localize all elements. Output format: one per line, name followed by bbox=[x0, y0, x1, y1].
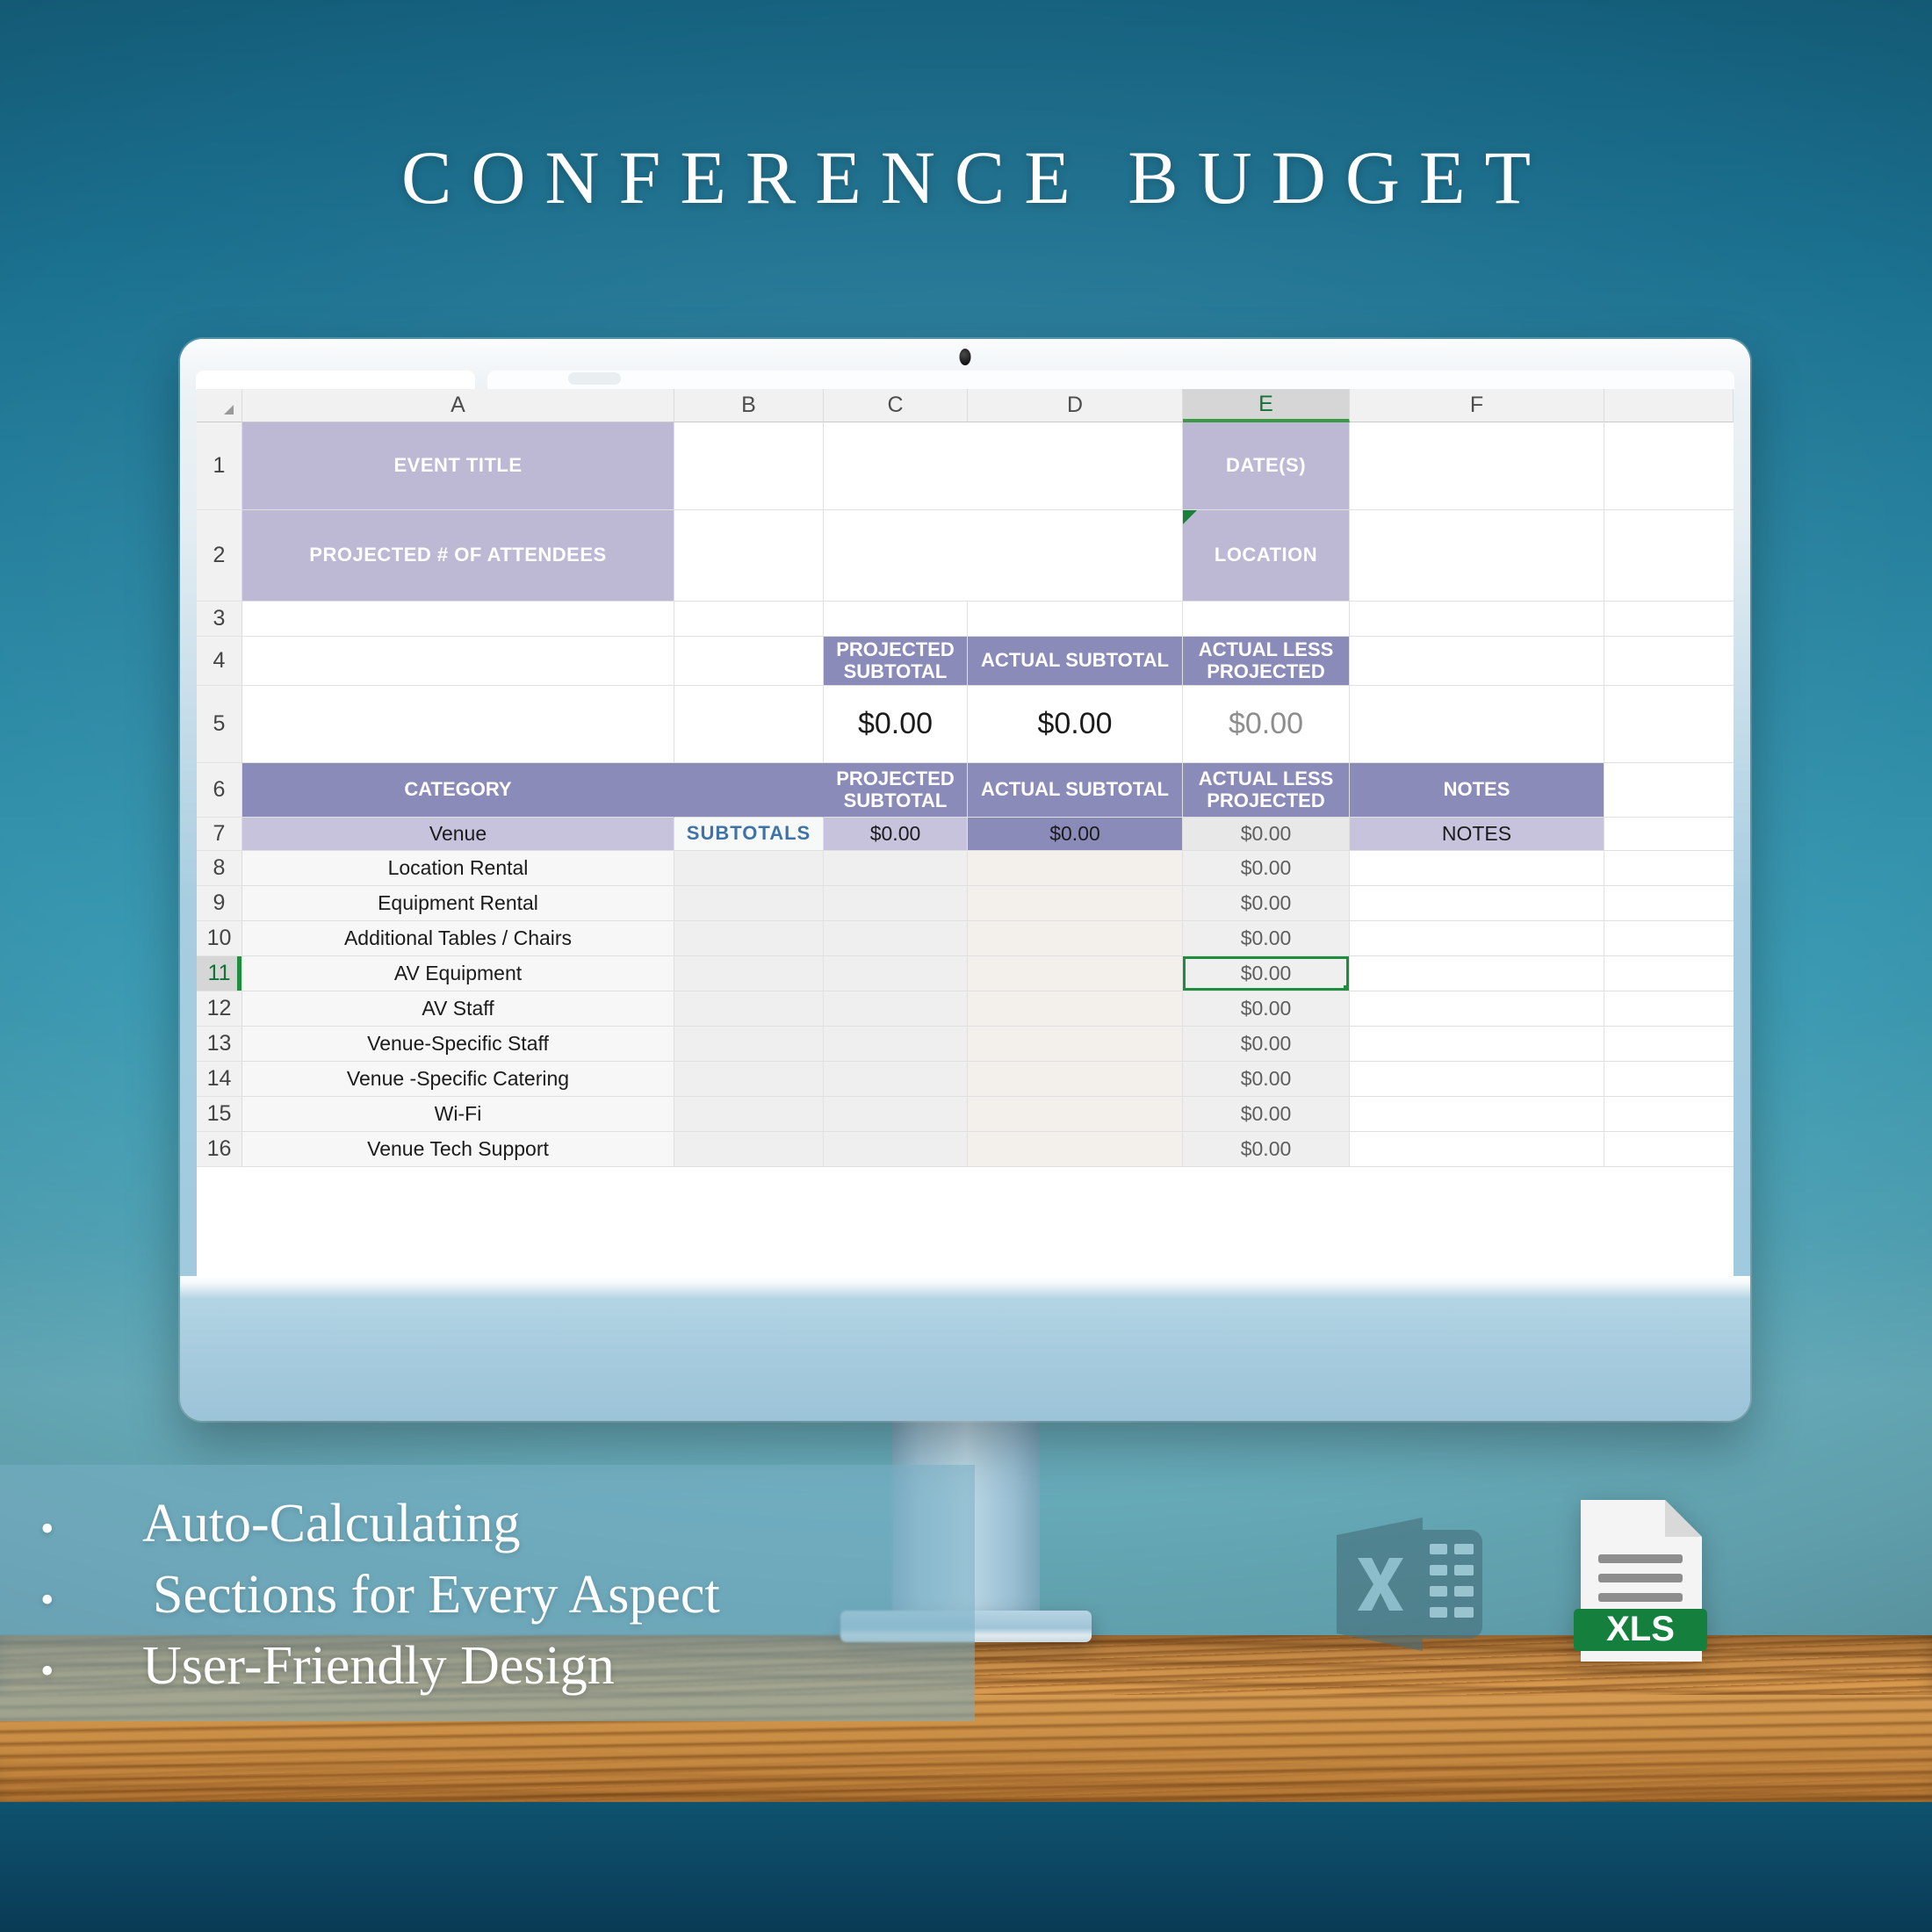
cell-a15-category[interactable]: Wi-Fi bbox=[242, 1097, 674, 1132]
cell-tail-15[interactable] bbox=[1604, 1097, 1734, 1132]
cell-a14-category[interactable]: Venue -Specific Catering bbox=[242, 1062, 674, 1097]
cell-f10-notes[interactable] bbox=[1350, 921, 1604, 956]
cell-f2[interactable] bbox=[1350, 510, 1604, 602]
cell-f1[interactable] bbox=[1350, 422, 1604, 510]
cell-tail-14[interactable] bbox=[1604, 1062, 1734, 1097]
cell-tail-2 bbox=[1604, 510, 1734, 602]
cell-c14-projected[interactable] bbox=[824, 1062, 968, 1097]
cell-f5[interactable] bbox=[1350, 686, 1604, 763]
cell-d3[interactable] bbox=[968, 602, 1183, 637]
cell-a6-category[interactable]: CATEGORY bbox=[242, 763, 674, 818]
row-header-14[interactable]: 14 bbox=[197, 1062, 242, 1097]
cell-a2-projected-attendees[interactable]: PROJECTED # OF ATTENDEES bbox=[242, 510, 674, 602]
cell-e6-line1: ACTUAL LESS bbox=[1199, 768, 1334, 790]
table-row: 2 PROJECTED # OF ATTENDEES LOCATION bbox=[197, 510, 1734, 602]
table-row: 9Equipment Rental$0.00 bbox=[197, 886, 1734, 921]
row-header-3[interactable]: 3 bbox=[197, 602, 242, 637]
cell-a10-category[interactable]: Additional Tables / Chairs bbox=[242, 921, 674, 956]
table-row: 5 $0.00 $0.00 $0.00 bbox=[197, 686, 1734, 763]
table-row: 1 EVENT TITLE DATE(S) bbox=[197, 422, 1734, 510]
cell-tail-7 bbox=[1604, 818, 1734, 851]
cell-d8-actual[interactable] bbox=[968, 851, 1183, 886]
browser-tab-2[interactable] bbox=[487, 371, 1734, 390]
cell-d1[interactable] bbox=[968, 422, 1183, 510]
cell-c15-projected[interactable] bbox=[824, 1097, 968, 1132]
cell-c12-projected[interactable] bbox=[824, 991, 968, 1027]
row-header-6[interactable]: 6 bbox=[197, 763, 242, 818]
row-header-16[interactable]: 16 bbox=[197, 1132, 242, 1167]
cell-c8-projected[interactable] bbox=[824, 851, 968, 886]
cell-a7-venue[interactable]: Venue bbox=[242, 818, 674, 851]
excel-logo-icon bbox=[1331, 1512, 1489, 1656]
row-header-2[interactable]: 2 bbox=[197, 510, 242, 602]
screen: A B C D E F 1 EVENT TITLE DATE(S) bbox=[197, 389, 1734, 1276]
row-header-9[interactable]: 9 bbox=[197, 886, 242, 921]
cell-c5-projected-total[interactable]: $0.00 bbox=[824, 686, 968, 763]
cell-d15-actual[interactable] bbox=[968, 1097, 1183, 1132]
cell-f15-notes[interactable] bbox=[1350, 1097, 1604, 1132]
cell-b3[interactable] bbox=[674, 602, 824, 637]
column-header-d[interactable]: D bbox=[968, 389, 1183, 422]
cell-a8-category[interactable]: Location Rental bbox=[242, 851, 674, 886]
cell-c2[interactable] bbox=[824, 510, 968, 602]
cell-e14-difference[interactable]: $0.00 bbox=[1183, 1062, 1350, 1097]
cell-e5-difference-total[interactable]: $0.00 bbox=[1183, 686, 1350, 763]
cell-d16-actual[interactable] bbox=[968, 1132, 1183, 1167]
webcam-icon bbox=[960, 349, 971, 365]
cell-c1[interactable] bbox=[824, 422, 968, 510]
cell-b14[interactable] bbox=[674, 1062, 824, 1097]
cell-b2[interactable] bbox=[674, 510, 824, 602]
cell-tail-13[interactable] bbox=[1604, 1027, 1734, 1062]
column-header-row: A B C D E F bbox=[197, 389, 1734, 422]
corner-triangle-icon bbox=[224, 405, 234, 415]
table-row: 7 Venue SUBTOTALS $0.00 $0.00 $0.00 NOTE… bbox=[197, 818, 1734, 851]
cell-f3[interactable] bbox=[1350, 602, 1604, 637]
cell-c6-line2: SUBTOTAL bbox=[844, 790, 948, 812]
cell-f12-notes[interactable] bbox=[1350, 991, 1604, 1027]
browser-tab-1[interactable] bbox=[196, 371, 475, 390]
cell-d2[interactable] bbox=[968, 510, 1183, 602]
column-header-a[interactable]: A bbox=[242, 389, 674, 422]
cell-f6-notes[interactable]: NOTES bbox=[1350, 763, 1604, 818]
cell-e4-actual-less-projected[interactable]: ACTUAL LESS PROJECTED bbox=[1183, 637, 1350, 686]
feature-item: • Auto-Calculating bbox=[40, 1495, 975, 1554]
cell-f9-notes[interactable] bbox=[1350, 886, 1604, 921]
cell-c4-projected-subtotal[interactable]: PROJECTED SUBTOTAL bbox=[824, 637, 968, 686]
cell-d13-actual[interactable] bbox=[968, 1027, 1183, 1062]
floor-area bbox=[0, 1802, 1932, 1932]
cell-b1[interactable] bbox=[674, 422, 824, 510]
cell-tail-12[interactable] bbox=[1604, 991, 1734, 1027]
xls-badge-label: XLS bbox=[1606, 1610, 1675, 1648]
cell-b15[interactable] bbox=[674, 1097, 824, 1132]
row-header-7[interactable]: 7 bbox=[197, 818, 242, 851]
row-header-8[interactable]: 8 bbox=[197, 851, 242, 886]
cell-tail-1 bbox=[1604, 422, 1734, 510]
table-row: 10Additional Tables / Chairs$0.00 bbox=[197, 921, 1734, 956]
cell-c10-projected[interactable] bbox=[824, 921, 968, 956]
column-header-e[interactable]: E bbox=[1183, 389, 1350, 422]
table-row: 16Venue Tech Support$0.00 bbox=[197, 1132, 1734, 1167]
cell-c13-projected[interactable] bbox=[824, 1027, 968, 1062]
cell-e15-difference[interactable]: $0.00 bbox=[1183, 1097, 1350, 1132]
cell-tail-11[interactable] bbox=[1604, 956, 1734, 991]
feature-item: • User-Friendly Design bbox=[40, 1637, 975, 1696]
cell-e1-dates[interactable]: DATE(S) bbox=[1183, 422, 1350, 510]
column-header-c[interactable]: C bbox=[824, 389, 968, 422]
cell-c16-projected[interactable] bbox=[824, 1132, 968, 1167]
cell-b11[interactable] bbox=[674, 956, 824, 991]
row-header-10[interactable]: 10 bbox=[197, 921, 242, 956]
cell-b12[interactable] bbox=[674, 991, 824, 1027]
cell-e9-difference[interactable]: $0.00 bbox=[1183, 886, 1350, 921]
row-header-4[interactable]: 4 bbox=[197, 637, 242, 686]
feature-item: • Sections for Every Aspect bbox=[40, 1566, 975, 1625]
row-header-1[interactable]: 1 bbox=[197, 422, 242, 510]
cell-d6-actual-subtotal[interactable]: ACTUAL SUBTOTAL bbox=[968, 763, 1183, 818]
cell-d14-actual[interactable] bbox=[968, 1062, 1183, 1097]
cell-b13[interactable] bbox=[674, 1027, 824, 1062]
cell-tail-8[interactable] bbox=[1604, 851, 1734, 886]
bullet-icon: • bbox=[40, 1510, 79, 1548]
cell-f4[interactable] bbox=[1350, 637, 1604, 686]
cell-f13-notes[interactable] bbox=[1350, 1027, 1604, 1062]
cell-b5[interactable] bbox=[674, 686, 824, 763]
cell-d4-actual-subtotal[interactable]: ACTUAL SUBTOTAL bbox=[968, 637, 1183, 686]
cell-d9-actual[interactable] bbox=[968, 886, 1183, 921]
table-header-row: 6 CATEGORY PROJECTED SUBTOTAL ACTUAL SUB… bbox=[197, 763, 1734, 818]
monitor: A B C D E F 1 EVENT TITLE DATE(S) bbox=[180, 339, 1750, 1421]
cell-a13-category[interactable]: Venue-Specific Staff bbox=[242, 1027, 674, 1062]
cell-f16-notes[interactable] bbox=[1350, 1132, 1604, 1167]
cell-e16-difference[interactable]: $0.00 bbox=[1183, 1132, 1350, 1167]
cell-tail-16[interactable] bbox=[1604, 1132, 1734, 1167]
cell-d12-actual[interactable] bbox=[968, 991, 1183, 1027]
cell-d10-actual[interactable] bbox=[968, 921, 1183, 956]
cell-e3[interactable] bbox=[1183, 602, 1350, 637]
cell-d5-actual-total[interactable]: $0.00 bbox=[968, 686, 1183, 763]
cell-tail-5 bbox=[1604, 686, 1734, 763]
page-title: CONFERENCE BUDGET bbox=[0, 133, 1932, 221]
cell-c7-projected[interactable]: $0.00 bbox=[824, 818, 968, 851]
row-header-15[interactable]: 15 bbox=[197, 1097, 242, 1132]
cell-a4[interactable] bbox=[242, 637, 674, 686]
feature-label-2: Sections for Every Aspect bbox=[153, 1566, 720, 1625]
cell-e6-actual-less-projected[interactable]: ACTUAL LESS PROJECTED bbox=[1183, 763, 1350, 818]
cell-c4-line1: PROJECTED bbox=[836, 639, 954, 661]
cell-e4-line2: PROJECTED bbox=[1207, 661, 1324, 683]
cell-f7-notes[interactable]: NOTES bbox=[1350, 818, 1604, 851]
cell-c4-line2: SUBTOTAL bbox=[844, 661, 948, 683]
cell-c9-projected[interactable] bbox=[824, 886, 968, 921]
row-header-12[interactable]: 12 bbox=[197, 991, 242, 1027]
cell-a5[interactable] bbox=[242, 686, 674, 763]
cell-a12-category[interactable]: AV Staff bbox=[242, 991, 674, 1027]
cell-b10[interactable] bbox=[674, 921, 824, 956]
table-row: 13Venue-Specific Staff$0.00 bbox=[197, 1027, 1734, 1062]
cell-f14-notes[interactable] bbox=[1350, 1062, 1604, 1097]
cell-a3[interactable] bbox=[242, 602, 674, 637]
cell-c11-projected[interactable] bbox=[824, 956, 968, 991]
cell-e10-difference[interactable]: $0.00 bbox=[1183, 921, 1350, 956]
feature-label-1: Auto-Calculating bbox=[142, 1495, 520, 1554]
cell-b8[interactable] bbox=[674, 851, 824, 886]
cell-e11-difference[interactable]: $0.00 bbox=[1183, 956, 1350, 991]
cell-a1-event-title[interactable]: EVENT TITLE bbox=[242, 422, 674, 510]
cell-f11-notes[interactable] bbox=[1350, 956, 1604, 991]
cell-tail-9[interactable] bbox=[1604, 886, 1734, 921]
row-header-13[interactable]: 13 bbox=[197, 1027, 242, 1062]
column-header-f[interactable]: F bbox=[1350, 389, 1604, 422]
cell-b9[interactable] bbox=[674, 886, 824, 921]
cell-d7-actual[interactable]: $0.00 bbox=[968, 818, 1183, 851]
row-header-5[interactable]: 5 bbox=[197, 686, 242, 763]
cell-tail-10[interactable] bbox=[1604, 921, 1734, 956]
features-panel: • Auto-Calculating • Sections for Every … bbox=[0, 1465, 975, 1721]
cell-a11-category[interactable]: AV Equipment bbox=[242, 956, 674, 991]
cell-c3[interactable] bbox=[824, 602, 968, 637]
column-header-b[interactable]: B bbox=[674, 389, 824, 422]
cell-e4-line1: ACTUAL LESS bbox=[1199, 639, 1334, 661]
browser-tabs-strip bbox=[196, 371, 1734, 390]
cell-e12-difference[interactable]: $0.00 bbox=[1183, 991, 1350, 1027]
table-row: 8Location Rental$0.00 bbox=[197, 851, 1734, 886]
table-row: 15Wi-Fi$0.00 bbox=[197, 1097, 1734, 1132]
line-items-container: 8Location Rental$0.009Equipment Rental$0… bbox=[197, 851, 1734, 1167]
spreadsheet: A B C D E F 1 EVENT TITLE DATE(S) bbox=[197, 389, 1734, 1276]
cell-c6-projected-subtotal[interactable]: PROJECTED SUBTOTAL bbox=[824, 763, 968, 818]
cell-b16[interactable] bbox=[674, 1132, 824, 1167]
table-row: 3 bbox=[197, 602, 1734, 637]
cell-e13-difference[interactable]: $0.00 bbox=[1183, 1027, 1350, 1062]
column-header-tail bbox=[1604, 389, 1734, 422]
cell-a16-category[interactable]: Venue Tech Support bbox=[242, 1132, 674, 1167]
cell-c6-line1: PROJECTED bbox=[836, 768, 954, 790]
table-row: 11AV Equipment$0.00 bbox=[197, 956, 1734, 991]
cell-tail-3 bbox=[1604, 602, 1734, 637]
monitor-chin bbox=[180, 1276, 1750, 1421]
cell-b7-subtotals-link[interactable]: SUBTOTALS bbox=[674, 818, 824, 851]
bullet-icon: • bbox=[40, 1581, 79, 1619]
cell-tail-4 bbox=[1604, 637, 1734, 686]
cell-e2-location[interactable]: LOCATION bbox=[1183, 510, 1350, 602]
bullet-icon: • bbox=[40, 1652, 79, 1690]
cell-e8-difference[interactable]: $0.00 bbox=[1183, 851, 1350, 886]
select-all-corner[interactable] bbox=[197, 389, 242, 422]
browser-tab-2-nub bbox=[568, 372, 621, 385]
cell-b4[interactable] bbox=[674, 637, 824, 686]
cell-f8-notes[interactable] bbox=[1350, 851, 1604, 886]
table-row: 14Venue -Specific Catering$0.00 bbox=[197, 1062, 1734, 1097]
table-row: 4 PROJECTED SUBTOTAL ACTUAL SUBTOTAL ACT… bbox=[197, 637, 1734, 686]
feature-label-3: User-Friendly Design bbox=[142, 1637, 615, 1696]
table-row: 12AV Staff$0.00 bbox=[197, 991, 1734, 1027]
cell-e7-difference[interactable]: $0.00 bbox=[1183, 818, 1350, 851]
cell-a9-category[interactable]: Equipment Rental bbox=[242, 886, 674, 921]
cell-b6[interactable] bbox=[674, 763, 824, 818]
cell-tail-6 bbox=[1604, 763, 1734, 818]
cell-d11-actual[interactable] bbox=[968, 956, 1183, 991]
row-header-11[interactable]: 11 bbox=[197, 956, 242, 991]
xls-file-icon: XLS bbox=[1574, 1495, 1707, 1667]
cell-e6-line2: PROJECTED bbox=[1207, 790, 1324, 812]
